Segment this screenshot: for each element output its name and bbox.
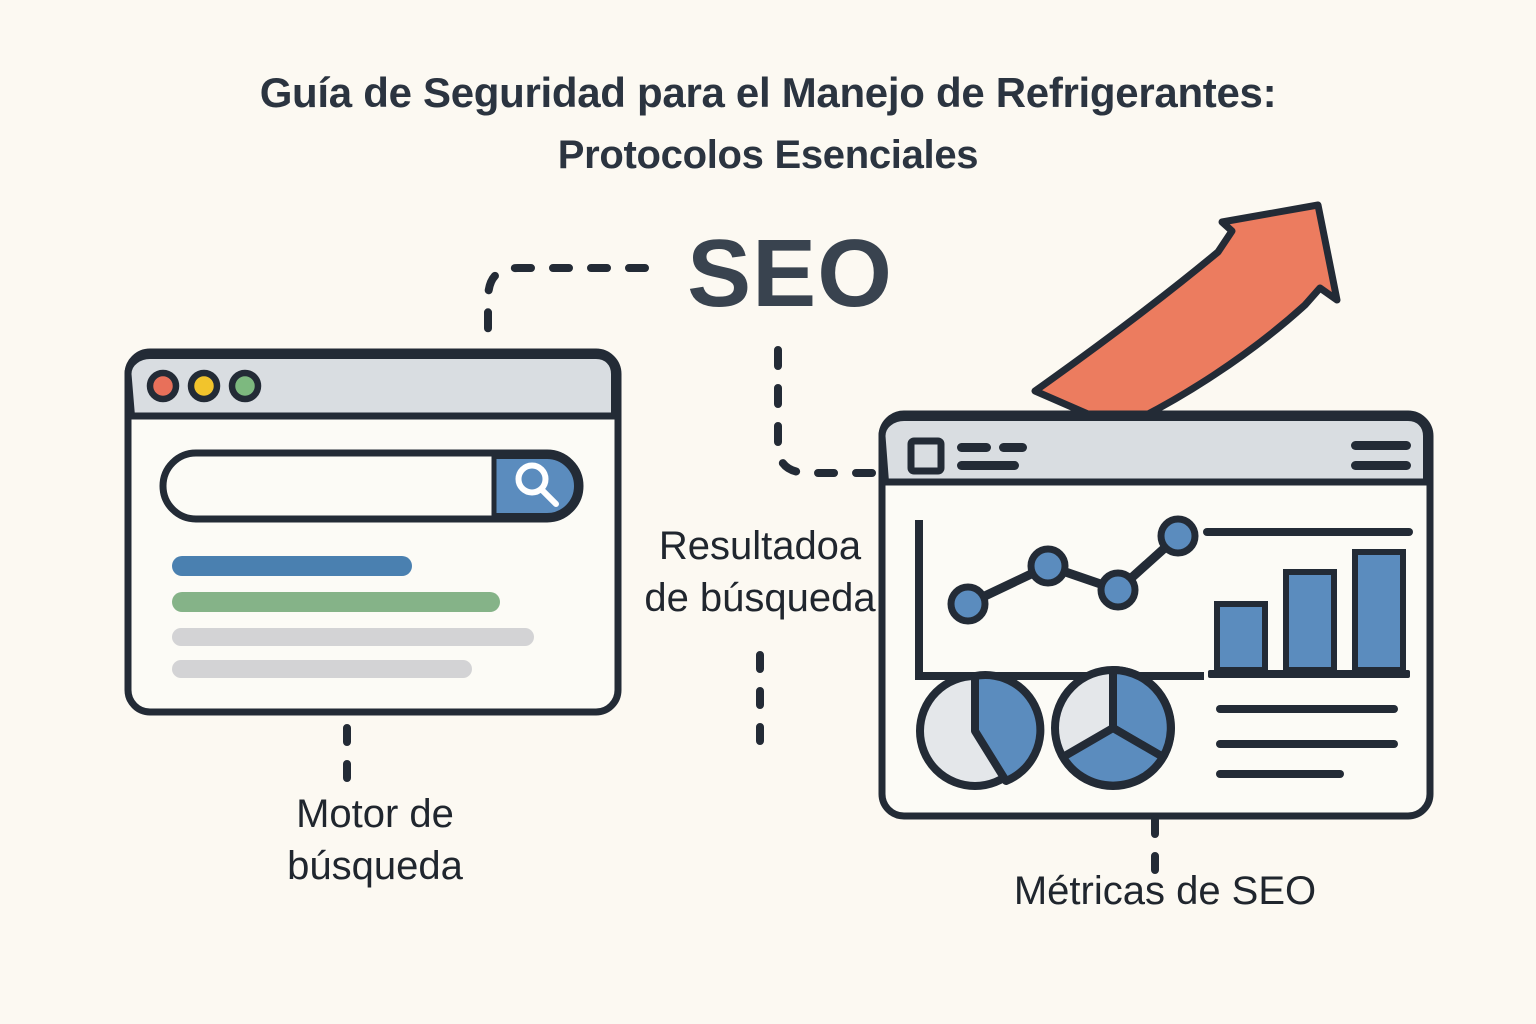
caption-search-engine-line-1: Motor de <box>185 788 565 840</box>
pie-chart-2-slice-blue-a[interactable] <box>1113 670 1171 757</box>
bar-chart-bar-3[interactable] <box>1355 552 1403 670</box>
search-result-list <box>172 556 534 678</box>
pie-chart-2-slice-blue-b[interactable] <box>1063 728 1163 786</box>
connector-seo-to-dashboard-window <box>778 350 880 473</box>
caption-seo-metrics: Métricas de SEO <box>935 865 1395 917</box>
page-title-line-1: Guía de Seguridad para el Manejo de Refr… <box>0 62 1536 124</box>
bar-chart-bar-2[interactable] <box>1286 572 1334 670</box>
traffic-light-minimize-icon[interactable] <box>191 373 217 399</box>
pie-chart-1-slice-grey[interactable] <box>920 676 1030 786</box>
caption-seo-metrics-line-1: Métricas de SEO <box>935 865 1395 917</box>
caption-search-engine-line-2: búsqueda <box>185 840 565 892</box>
dashboard-text-line-1 <box>1216 705 1398 713</box>
pie-chart-2-slice-grey[interactable] <box>1055 670 1171 786</box>
search-result-bar-4[interactable] <box>172 660 472 678</box>
search-button[interactable] <box>494 457 577 516</box>
dashboard-text-line-2 <box>1216 740 1398 748</box>
line-chart-point-1[interactable] <box>951 587 985 621</box>
dashboard-rule-top <box>1203 528 1413 536</box>
line-chart-point-3[interactable] <box>1101 573 1135 607</box>
search-icon <box>519 466 557 505</box>
search-result-bar-2[interactable] <box>172 592 500 612</box>
bar-chart-baseline <box>1208 670 1410 678</box>
search-window-frame <box>128 352 618 712</box>
page-title-line-2: Protocolos Esenciales <box>0 124 1536 186</box>
dashboard-window-frame <box>882 414 1430 816</box>
square-icon[interactable] <box>911 441 941 471</box>
search-result-bar-3[interactable] <box>172 628 534 646</box>
caption-search-results-line-2: de búsqueda <box>600 572 920 624</box>
caption-search-results: Resultadoa de búsqueda <box>600 520 920 624</box>
seo-wordmark: SEO <box>660 218 920 330</box>
search-engine-window[interactable] <box>128 352 618 712</box>
search-window-titlebar <box>128 356 615 417</box>
dashboard-text-line-3 <box>1216 770 1344 778</box>
seo-dashboard-window[interactable] <box>882 414 1430 816</box>
growth-arrow <box>1035 205 1337 428</box>
menu-lines-icon[interactable] <box>957 443 1027 470</box>
dashboard-text-lines <box>1216 705 1398 778</box>
menu-lines-right-icon[interactable] <box>1351 441 1411 470</box>
page-title: Guía de Seguridad para el Manejo de Refr… <box>0 62 1536 186</box>
line-chart-point-4[interactable] <box>1161 519 1195 553</box>
traffic-light-maximize-icon[interactable] <box>232 373 258 399</box>
line-chart <box>919 519 1200 676</box>
connector-seo-to-search-window <box>488 268 645 330</box>
bar-chart <box>1208 552 1410 678</box>
dashboard-titlebar <box>882 418 1427 483</box>
line-chart-axes <box>919 524 1200 676</box>
search-input[interactable] <box>163 453 580 519</box>
traffic-light-close-icon[interactable] <box>150 373 176 399</box>
line-chart-point-2[interactable] <box>1031 549 1065 583</box>
pie-chart-1 <box>920 675 1040 786</box>
pie-chart-2 <box>1055 670 1171 786</box>
infographic-canvas: Guía de Seguridad para el Manejo de Refr… <box>0 0 1536 1024</box>
line-chart-series <box>968 536 1178 604</box>
search-result-bar-1[interactable] <box>172 556 412 576</box>
bar-chart-bar-1[interactable] <box>1217 604 1265 670</box>
caption-search-engine: Motor de búsqueda <box>185 788 565 892</box>
caption-search-results-line-1: Resultadoa <box>600 520 920 572</box>
pie-chart-1-slice-blue[interactable] <box>975 675 1040 781</box>
